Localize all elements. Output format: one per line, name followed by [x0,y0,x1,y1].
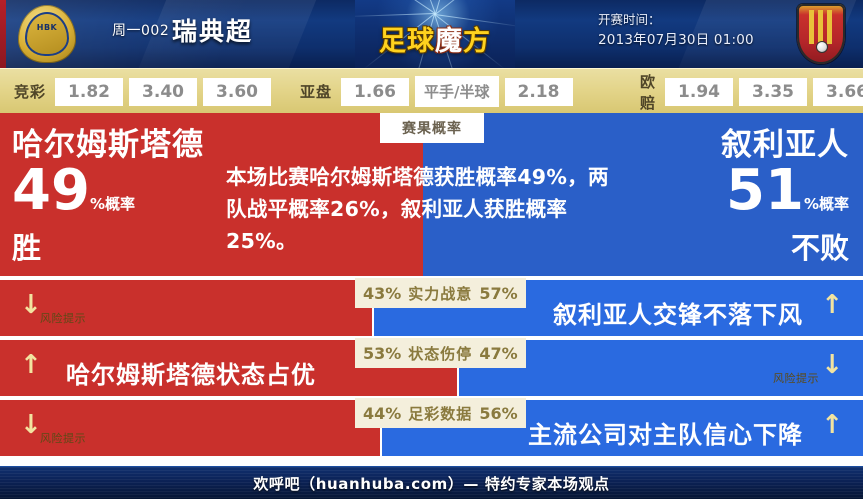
row-metric-chip: 43% 实力战意 57% [355,278,526,308]
home-probability-block: 哈尔姆斯塔德 49%概率 胜 [12,127,204,264]
hero-probability-panel: 哈尔姆斯塔德 49%概率 胜 叙利亚人 51%概率 不败 赛果概率 本场比赛哈尔… [0,113,863,276]
row-right-percent: 47% [479,344,517,363]
row-metric-label: 足彩数据 [408,403,472,424]
arrow-up-icon: ↑ [20,352,42,378]
arrow-down-icon: ↓ [20,292,42,318]
away-percent-number: 51 [726,158,804,223]
football-icon [816,41,828,53]
row-right-percent: 57% [479,284,517,303]
row-metric-label: 实力战意 [408,283,472,304]
odds-value[interactable]: 1.94 [665,78,733,106]
odds-value[interactable]: 3.66 [813,78,863,106]
row-bar-home [0,400,380,456]
home-team-crest: HBK [18,5,76,63]
row-right-headline: 主流公司对主队信心下降 [528,415,803,450]
home-crest-text: HBK [18,23,76,32]
arrow-up-icon: ↑ [821,412,843,438]
odds-group-label: 欧赔 [640,71,656,113]
away-probability-block: 叙利亚人 51%概率 不败 [721,127,849,264]
brand-starburst-icon [435,14,437,16]
kickoff-label: 开赛时间： [598,10,778,30]
odds-value[interactable]: 2.18 [505,78,573,106]
arrow-down-icon: ↓ [20,412,42,438]
league-name: 瑞典超 [172,12,253,48]
odds-value[interactable]: 3.35 [739,78,807,106]
odds-group-jingcai: 竞彩 1.82 3.40 3.60 [14,69,277,114]
match-analysis-infographic: HBK 周一002 瑞典超 足球魔方 开赛时间： 2013年07月30日 01:… [0,0,863,499]
brand-text-part3: 方 [463,26,491,57]
match-round-label: 周一002 [112,20,169,40]
brand-logo-text: 足球魔方 [355,19,515,58]
compare-row-strength: ↓ 风险提示 叙利亚人交锋不落下风 ↑ 43% 实力战意 57% [0,280,863,336]
home-percent-suffix: %概率 [90,195,135,213]
odds-group-oupei: 欧赔 1.94 3.35 3.66 [640,69,863,114]
odds-value[interactable]: 3.40 [129,78,197,106]
row-left-percent: 44% [363,404,401,423]
kickoff-time-block: 开赛时间： 2013年07月30日 01:00 [598,10,778,50]
compare-row-betting-data: ↓ 风险提示 主流公司对主队信心下降 ↑ 44% 足彩数据 56% [0,400,863,456]
odds-group-yapan: 亚盘 1.66 平手/半球 2.18 [300,69,579,114]
row-right-headline: 叙利亚人交锋不落下风 [553,295,803,330]
probability-description: 本场比赛哈尔姆斯塔德获胜概率49%，两队战平概率26%，叙利亚人获胜概率25%。 [226,161,616,257]
odds-bar: 竞彩 1.82 3.40 3.60 亚盘 1.66 平手/半球 2.18 欧赔 … [0,68,863,114]
tab-result-probability[interactable]: 赛果概率 [380,113,484,143]
brand-logo-panel: 足球魔方 [355,0,515,68]
header-red-edge [0,0,6,68]
arrow-down-icon: ↓ [821,352,843,378]
away-team-crest [797,4,845,64]
compare-row-form: ↑ 哈尔姆斯塔德状态占优 风险提示 ↓ 53% 状态伤停 47% [0,340,863,396]
odds-handicap-value[interactable]: 平手/半球 [415,76,498,107]
arrow-up-icon: ↑ [821,292,843,318]
row-metric-label: 状态伤停 [408,343,472,364]
odds-group-label: 亚盘 [300,81,332,102]
away-percent-suffix: %概率 [804,195,849,213]
away-result-label: 不败 [721,232,849,264]
kickoff-value: 2013年07月30日 01:00 [598,30,778,50]
row-left-note: 风险提示 [40,430,86,446]
odds-group-label: 竞彩 [14,81,46,102]
row-left-percent: 53% [363,344,401,363]
row-left-note: 风险提示 [40,310,86,326]
header-bar: HBK 周一002 瑞典超 足球魔方 开赛时间： 2013年07月30日 01:… [0,0,863,68]
row-metric-chip: 44% 足彩数据 56% [355,398,526,428]
home-result-label: 胜 [12,232,204,264]
odds-value[interactable]: 1.82 [55,78,123,106]
brand-text-part2: 魔 [435,26,463,57]
row-left-percent: 43% [363,284,401,303]
row-bar-home [0,280,372,336]
odds-value[interactable]: 3.60 [203,78,271,106]
odds-value[interactable]: 1.66 [341,78,409,106]
footer-bar: 欢呼吧（huanhuba.com）— 特约专家本场观点 [0,466,863,499]
away-probability-value: 51%概率 [721,165,849,230]
row-left-headline: 哈尔姆斯塔德状态占优 [66,355,316,390]
home-probability-value: 49%概率 [12,165,204,230]
home-percent-number: 49 [12,158,90,223]
row-right-percent: 56% [479,404,517,423]
row-right-note: 风险提示 [773,370,819,386]
brand-text-part1: 足球 [379,26,435,57]
row-metric-chip: 53% 状态伤停 47% [355,338,526,368]
footer-credit-text: 欢呼吧（huanhuba.com）— 特约专家本场观点 [253,473,609,494]
